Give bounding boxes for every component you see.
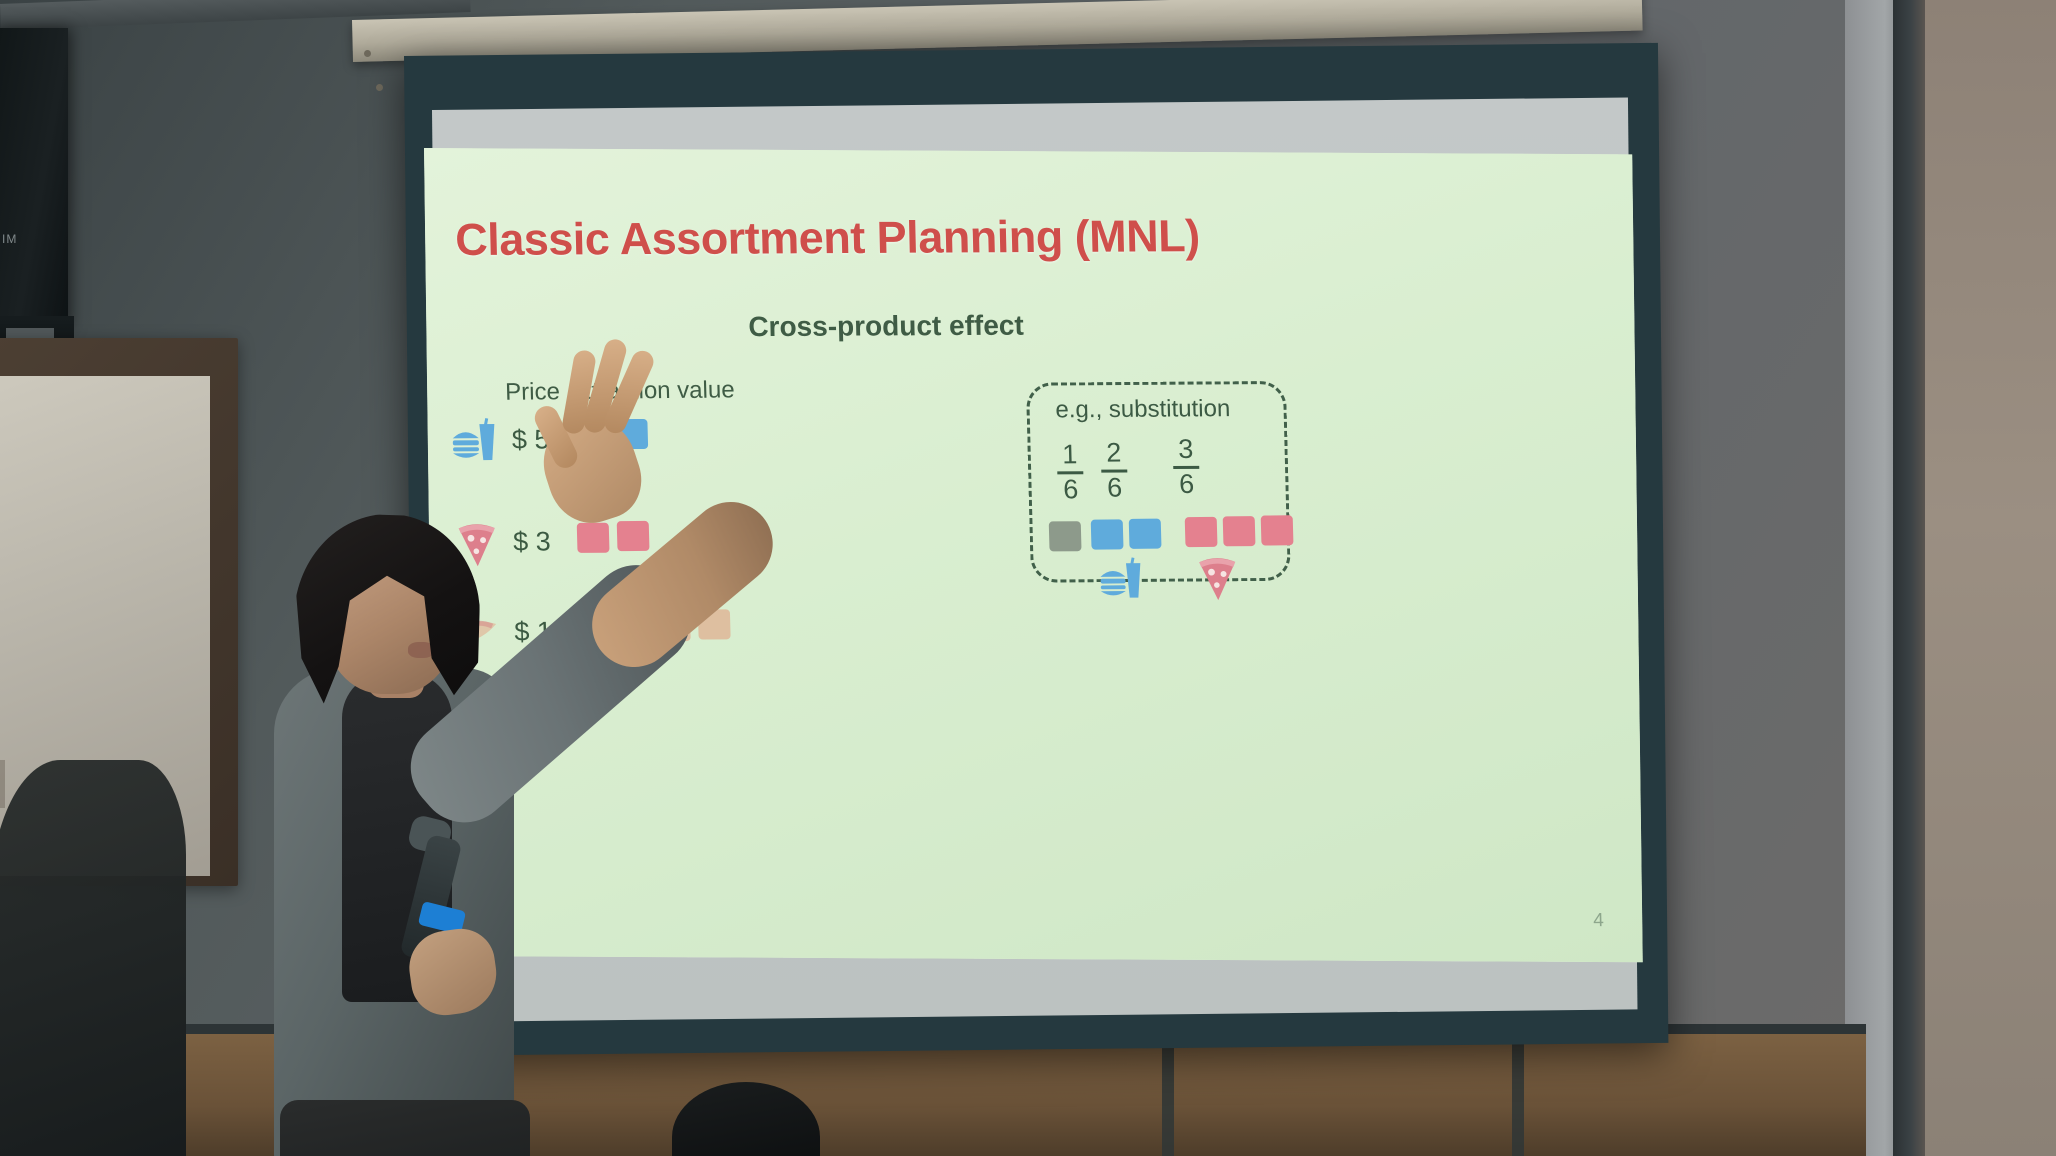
foreground-shadow xyxy=(0,760,186,1156)
slide-subtitle: Cross-product effect xyxy=(748,310,1024,343)
fraction-denominator: 6 xyxy=(1179,468,1195,498)
substitution-square xyxy=(1091,519,1124,549)
column-header-price: Price xyxy=(505,378,560,406)
substitution-box-title: e.g., substitution xyxy=(1055,395,1230,424)
substitution-square xyxy=(1223,516,1256,546)
speaker-brand-label: IM xyxy=(2,232,56,246)
wood-post xyxy=(1512,1034,1524,1156)
right-wall xyxy=(1915,0,2056,1156)
wood-post xyxy=(1162,1034,1174,1156)
burger-drink-icon xyxy=(1097,557,1144,606)
substitution-square xyxy=(1185,517,1218,547)
fraction-numerator: 3 xyxy=(1178,434,1194,464)
wall-speaker xyxy=(0,28,68,328)
whiteboard-marker-smudge xyxy=(0,760,5,808)
fraction-denominator: 6 xyxy=(1107,472,1123,502)
burger-drink-icon xyxy=(449,418,498,469)
substitution-square xyxy=(1129,519,1162,549)
fraction-2-6: 2 6 xyxy=(1093,439,1135,501)
mount-screw xyxy=(376,84,383,91)
pizza-slice-icon xyxy=(1195,554,1240,607)
fraction-denominator: 6 xyxy=(1063,474,1079,504)
slide-title: Classic Assortment Planning (MNL) xyxy=(455,210,1201,266)
photo-scene: IM Classic Assortment Planning (MNL) Cro… xyxy=(0,0,2056,1156)
slide-page-number: 4 xyxy=(1593,910,1604,932)
presenter xyxy=(250,500,650,1156)
door-frame xyxy=(1893,0,1925,1156)
substitution-square xyxy=(1049,521,1082,551)
mount-screw xyxy=(364,50,371,57)
presenter-lower-body xyxy=(280,1100,530,1156)
fraction-numerator: 2 xyxy=(1106,438,1122,468)
fraction-1-6: 1 6 xyxy=(1050,441,1092,503)
substitution-square xyxy=(1261,515,1294,545)
fraction-3-6: 3 6 xyxy=(1165,436,1207,498)
fraction-numerator: 1 xyxy=(1062,439,1078,469)
